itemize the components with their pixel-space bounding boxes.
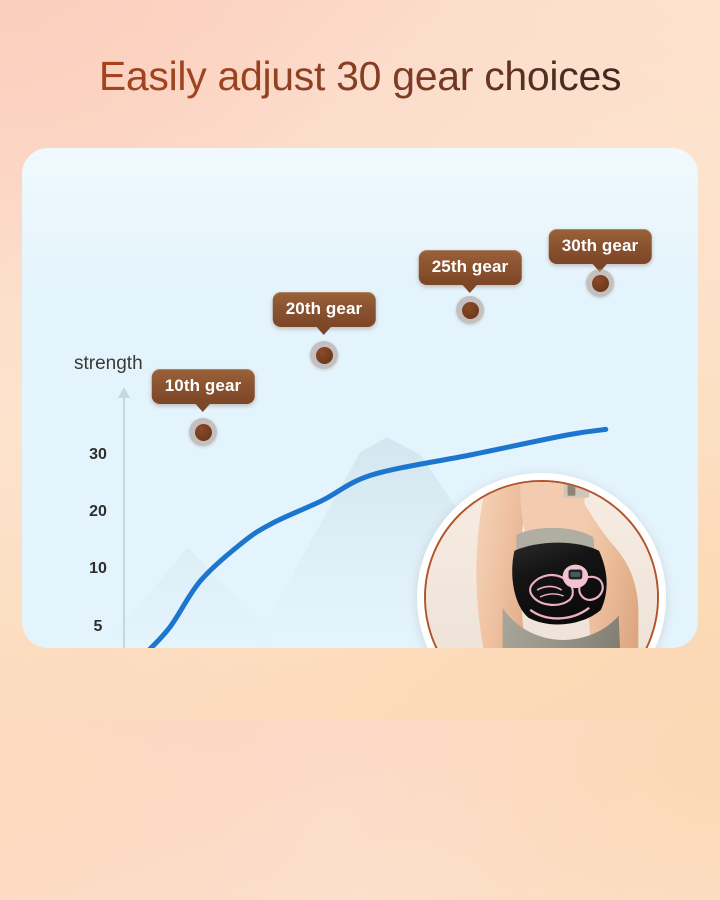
product-photo[interactable]: [417, 473, 666, 648]
gear-callout-30[interactable]: 30th gear: [549, 229, 652, 264]
gear-callout-25[interactable]: 25th gear: [419, 250, 522, 285]
gear-marker-15[interactable]: [310, 341, 338, 369]
gear-marker-30[interactable]: [586, 269, 614, 297]
gear-marker-3[interactable]: [189, 418, 217, 446]
product-photo-image: [426, 482, 657, 648]
gear-marker-25[interactable]: [456, 296, 484, 324]
page-title: Easily adjust 30 gear choices: [0, 52, 720, 101]
chart-card: strength Gear position 05102030 01020253…: [22, 148, 698, 648]
product-photo-ring: [424, 480, 659, 648]
gear-callout-3[interactable]: 10th gear: [152, 369, 255, 404]
gear-callout-15[interactable]: 20th gear: [273, 292, 376, 327]
